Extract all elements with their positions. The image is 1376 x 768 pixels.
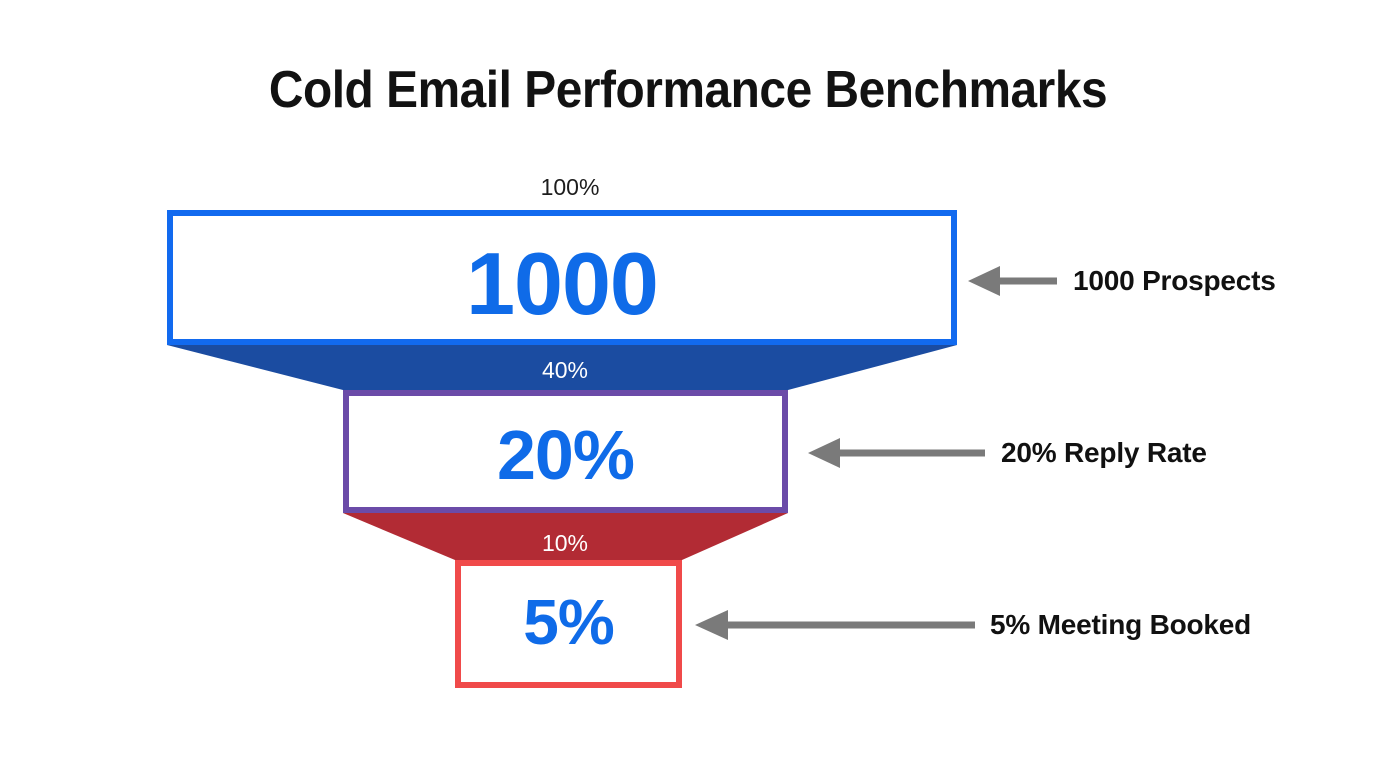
funnel-stage-3-annotation: 5% Meeting Booked [990, 609, 1251, 641]
funnel-stage-2-annotation: 20% Reply Rate [1001, 437, 1207, 469]
funnel-shapes [0, 0, 1376, 768]
funnel-stage-2-value: 20% [343, 420, 788, 490]
funnel-stage-1-value: 1000 [167, 240, 957, 328]
funnel-stage-3-value: 5% [455, 590, 682, 654]
funnel-stage-1-annotation: 1000 Prospects [1073, 265, 1276, 297]
annotation-arrow-2 [808, 438, 985, 468]
funnel-connector-label-10: 10% [465, 530, 665, 557]
annotation-arrow-3 [695, 610, 975, 640]
funnel-chart-canvas: Cold Email Performance Benchmarks 100% [0, 0, 1376, 768]
annotation-arrow-1 [968, 266, 1057, 296]
funnel-top-percent-label: 100% [470, 174, 670, 201]
funnel-connector-label-40: 40% [465, 357, 665, 384]
